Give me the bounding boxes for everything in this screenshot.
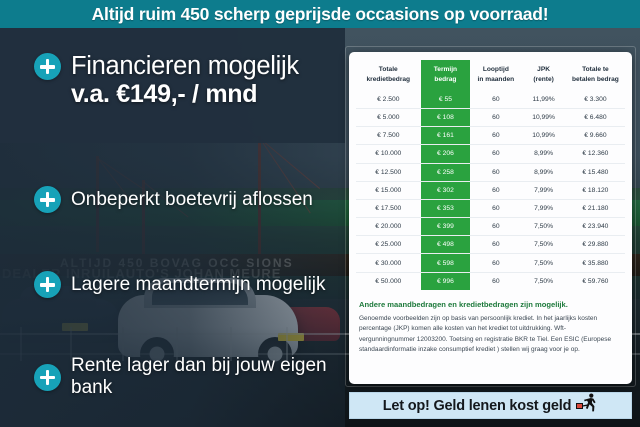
table-row: € 7.500€ 1616010,99%€ 9.660 (356, 127, 625, 145)
cell-termijnbedrag: € 302 (421, 181, 471, 199)
header-line-2: kredietbedrag (366, 76, 410, 83)
cell-jpk: 7,50% (521, 272, 565, 290)
cell-looptijd: 60 (470, 254, 521, 272)
cell-termijnbedrag: € 206 (421, 145, 471, 163)
cell-totaal: € 6.480 (566, 108, 625, 126)
cell-looptijd: 60 (470, 218, 521, 236)
benefit-item-financiering: Financieren mogelijk (34, 52, 299, 81)
column-header-looptijd: Looptijd in maanden (470, 60, 521, 91)
header-line-1: Looptijd (483, 66, 509, 73)
cell-totaal: € 9.660 (566, 127, 625, 145)
benefit-item-boetevrij-aflossen: Onbeperkt boetevrij aflossen (34, 186, 313, 213)
cell-termijnbedrag: € 108 (421, 108, 471, 126)
cell-jpk: 10,99% (521, 108, 565, 126)
column-header-totale-te-betalen: Totale te betalen bedrag (566, 60, 625, 91)
table-row: € 2.500€ 556011,99%€ 3.300 (356, 91, 625, 109)
header-line-2: (rente) (533, 76, 554, 83)
cell-kredietbedrag: € 12.500 (356, 163, 421, 181)
header-line-1: Totale (379, 66, 398, 73)
column-header-totale-kredietbedrag: Totale kredietbedrag (356, 60, 421, 91)
table-row: € 15.000€ 302607,99%€ 18.120 (356, 181, 625, 199)
cell-jpk: 8,99% (521, 145, 565, 163)
table-header-row: Totale kredietbedrag Termijn bedrag Loop… (356, 60, 625, 91)
cell-totaal: € 35.880 (566, 254, 625, 272)
loan-rates-table: Totale kredietbedrag Termijn bedrag Loop… (356, 60, 625, 290)
cell-looptijd: 60 (470, 236, 521, 254)
table-row: € 17.500€ 353607,99%€ 21.180 (356, 199, 625, 217)
cell-kredietbedrag: € 2.500 (356, 91, 421, 109)
cell-totaal: € 15.480 (566, 163, 625, 181)
cell-termijnbedrag: € 598 (421, 254, 471, 272)
credit-warning-bar: Let op! Geld lenen kost geld (349, 392, 632, 419)
note-body: Genoemde voorbeelden zijn op basis van p… (356, 314, 625, 356)
header-line-2: bedrag (434, 76, 456, 83)
cell-termijnbedrag: € 161 (421, 127, 471, 145)
cell-kredietbedrag: € 20.000 (356, 218, 421, 236)
header-line-1: JPK (537, 66, 550, 73)
table-row: € 20.000€ 399607,50%€ 23.940 (356, 218, 625, 236)
cell-looptijd: 60 (470, 272, 521, 290)
plus-icon (34, 364, 61, 391)
column-header-jpk: JPK (rente) (521, 60, 565, 91)
benefit-label: Rente lager dan bij jouw eigen bank (71, 355, 345, 399)
table-row: € 50.000€ 996607,50%€ 59.760 (356, 272, 625, 290)
table-row: € 10.000€ 206608,99%€ 12.360 (356, 145, 625, 163)
plus-icon (34, 186, 61, 213)
cell-kredietbedrag: € 5.000 (356, 108, 421, 126)
cell-termijnbedrag: € 258 (421, 163, 471, 181)
cell-kredietbedrag: € 25.000 (356, 236, 421, 254)
cell-termijnbedrag: € 353 (421, 199, 471, 217)
header-line-1: Totale te (582, 66, 609, 73)
cell-looptijd: 60 (470, 91, 521, 109)
cell-totaal: € 3.300 (566, 91, 625, 109)
loan-rates-card: Totale kredietbedrag Termijn bedrag Loop… (349, 52, 632, 384)
cell-jpk: 7,50% (521, 218, 565, 236)
benefits-list: Financieren mogelijk v.a. €149,- / mnd O… (0, 28, 345, 427)
cell-kredietbedrag: € 50.000 (356, 272, 421, 290)
cell-termijnbedrag: € 55 (421, 91, 471, 109)
header-line-2: in maanden (478, 76, 515, 83)
top-banner: Altijd ruim 450 scherp geprijsde occasio… (0, 0, 640, 28)
cell-jpk: 8,99% (521, 163, 565, 181)
note-title: Andere maandbedragen en kredietbedragen … (356, 300, 625, 309)
cell-jpk: 10,99% (521, 127, 565, 145)
benefit-item-lagere-rente: Rente lager dan bij jouw eigen bank (34, 355, 345, 399)
cell-jpk: 7,50% (521, 254, 565, 272)
table-row: € 30.000€ 598607,50%€ 35.880 (356, 254, 625, 272)
column-header-termijn-bedrag: Termijn bedrag (421, 60, 471, 91)
cell-jpk: 7,99% (521, 199, 565, 217)
table-row: € 5.000€ 1086010,99%€ 6.480 (356, 108, 625, 126)
cell-looptijd: 60 (470, 163, 521, 181)
cell-jpk: 7,50% (521, 236, 565, 254)
credit-warning-text: Let op! Geld lenen kost geld (383, 398, 572, 414)
cell-kredietbedrag: € 10.000 (356, 145, 421, 163)
header-line-1: Termijn (434, 66, 457, 73)
table-body: € 2.500€ 556011,99%€ 3.300€ 5.000€ 10860… (356, 91, 625, 290)
banner-headline: Altijd ruim 450 scherp geprijsde occasio… (92, 4, 549, 25)
cell-totaal: € 12.360 (566, 145, 625, 163)
cell-kredietbedrag: € 30.000 (356, 254, 421, 272)
cell-totaal: € 29.880 (566, 236, 625, 254)
cell-kredietbedrag: € 17.500 (356, 199, 421, 217)
table-row: € 25.000€ 498607,50%€ 29.880 (356, 236, 625, 254)
cell-totaal: € 59.760 (566, 272, 625, 290)
walking-person-with-money-bag-icon (576, 393, 598, 418)
table-row: € 12.500€ 258608,99%€ 15.480 (356, 163, 625, 181)
cell-totaal: € 18.120 (566, 181, 625, 199)
benefit-label: Lagere maandtermijn mogelijk (71, 274, 326, 296)
cell-termijnbedrag: € 399 (421, 218, 471, 236)
cell-termijnbedrag: € 996 (421, 272, 471, 290)
cell-looptijd: 60 (470, 145, 521, 163)
promotional-banner-image: ALTIJD 450 BOVAG OCC SIONS DEALER INRUIL… (0, 0, 640, 427)
plus-icon (34, 271, 61, 298)
cell-looptijd: 60 (470, 199, 521, 217)
benefit-sublabel-monthly-price: v.a. €149,- / mnd (71, 80, 257, 109)
benefit-label: Onbeperkt boetevrij aflossen (71, 189, 313, 211)
cell-jpk: 11,99% (521, 91, 565, 109)
header-line-2: betalen bedrag (572, 76, 619, 83)
cell-kredietbedrag: € 7.500 (356, 127, 421, 145)
benefit-item-lagere-maandtermijn: Lagere maandtermijn mogelijk (34, 271, 326, 298)
benefit-label: Financieren mogelijk (71, 52, 299, 81)
cell-totaal: € 23.940 (566, 218, 625, 236)
plus-icon (34, 53, 61, 80)
cell-looptijd: 60 (470, 181, 521, 199)
cell-looptijd: 60 (470, 108, 521, 126)
cell-looptijd: 60 (470, 127, 521, 145)
cell-totaal: € 21.180 (566, 199, 625, 217)
cell-termijnbedrag: € 498 (421, 236, 471, 254)
cell-jpk: 7,99% (521, 181, 565, 199)
cell-kredietbedrag: € 15.000 (356, 181, 421, 199)
